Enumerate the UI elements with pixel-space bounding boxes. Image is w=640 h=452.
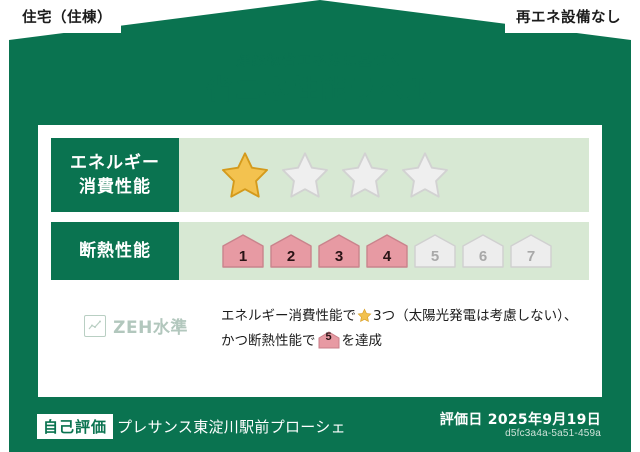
insulation-grade-number: 1	[221, 248, 265, 265]
insulation-grade-7: 7	[509, 233, 553, 269]
inline-star-icon	[357, 311, 372, 327]
energy-performance-label: エネルギー 消費性能	[51, 138, 179, 212]
energy-performance-row: エネルギー 消費性能	[51, 138, 589, 212]
star-rating	[219, 150, 451, 200]
heading-subtitle: 建築物省エネ法に基づく	[0, 52, 640, 70]
energy-performance-value	[179, 138, 589, 212]
insulation-grade-number: 5	[413, 248, 457, 265]
insulation-grade-number: 3	[317, 248, 361, 265]
insulation-grade-number: 7	[509, 248, 553, 265]
evaluation-date: 評価日 2025年9月19日	[440, 409, 601, 429]
star-empty-icon	[279, 150, 331, 200]
achievement-note: エネルギー消費性能で3つ（太陽光発電は考慮しない）、かつ断熱性能で5を達成	[221, 297, 589, 352]
evaluation-id: d5fc3a4a-5a51-459a	[505, 428, 601, 439]
insulation-performance-value: 1234567	[179, 222, 589, 280]
content-panel: エネルギー 消費性能 断熱性能 1234567	[38, 125, 602, 397]
energy-label-line1: エネルギー	[70, 151, 160, 175]
insulation-grade-5: 5	[413, 233, 457, 269]
self-evaluation-badge: 自己評価	[37, 414, 113, 439]
building-type-tag: 住宅（住棟）	[9, 0, 121, 33]
insulation-grade-number: 2	[269, 248, 313, 265]
star-filled-icon	[219, 150, 271, 200]
label-heading: 建築物省エネ法に基づく 省エネ性能ラベル	[0, 52, 640, 108]
zeh-note-block: ZEH水準 エネルギー消費性能で3つ（太陽光発電は考慮しない）、かつ断熱性能で5…	[51, 297, 589, 367]
inline-grade-badge: 5	[318, 331, 340, 349]
insulation-grade-1: 1	[221, 233, 265, 269]
insulation-grade-2: 2	[269, 233, 313, 269]
building-name: プレサンス東淀川駅前プローシェ	[117, 416, 346, 437]
insulation-grade-4: 4	[365, 233, 409, 269]
insulation-grade-6: 6	[461, 233, 505, 269]
insulation-label-line1: 断熱性能	[79, 240, 151, 262]
chart-line-icon	[84, 315, 106, 337]
energy-performance-label: 住宅（住棟） 再エネ設備なし 建築物省エネ法に基づく 省エネ性能ラベル エネルギ…	[0, 0, 640, 452]
label-footer: 自己評価 プレサンス東淀川駅前プローシェ 評価日 2025年9月19日 d5fc…	[9, 400, 631, 452]
insulation-grade-number: 6	[461, 248, 505, 265]
insulation-performance-label: 断熱性能	[51, 222, 179, 280]
renewable-equipment-tag: 再エネ設備なし	[505, 0, 631, 33]
inline-grade-number: 5	[318, 326, 340, 348]
insulation-grade-scale: 1234567	[221, 233, 553, 269]
star-empty-icon	[399, 150, 451, 200]
energy-label-line2: 消費性能	[79, 175, 151, 199]
note-part1: エネルギー消費性能で	[221, 308, 356, 324]
note-part3: を達成	[342, 333, 383, 349]
insulation-grade-3: 3	[317, 233, 361, 269]
zeh-label: ZEH水準	[113, 313, 188, 338]
insulation-grade-number: 4	[365, 248, 409, 265]
star-empty-icon	[339, 150, 391, 200]
insulation-performance-row: 断熱性能 1234567	[51, 222, 589, 280]
heading-title: 省エネ性能ラベル	[0, 74, 640, 108]
note-star-count: 3つ	[373, 308, 395, 324]
zeh-standard-mark: ZEH水準	[51, 297, 221, 338]
